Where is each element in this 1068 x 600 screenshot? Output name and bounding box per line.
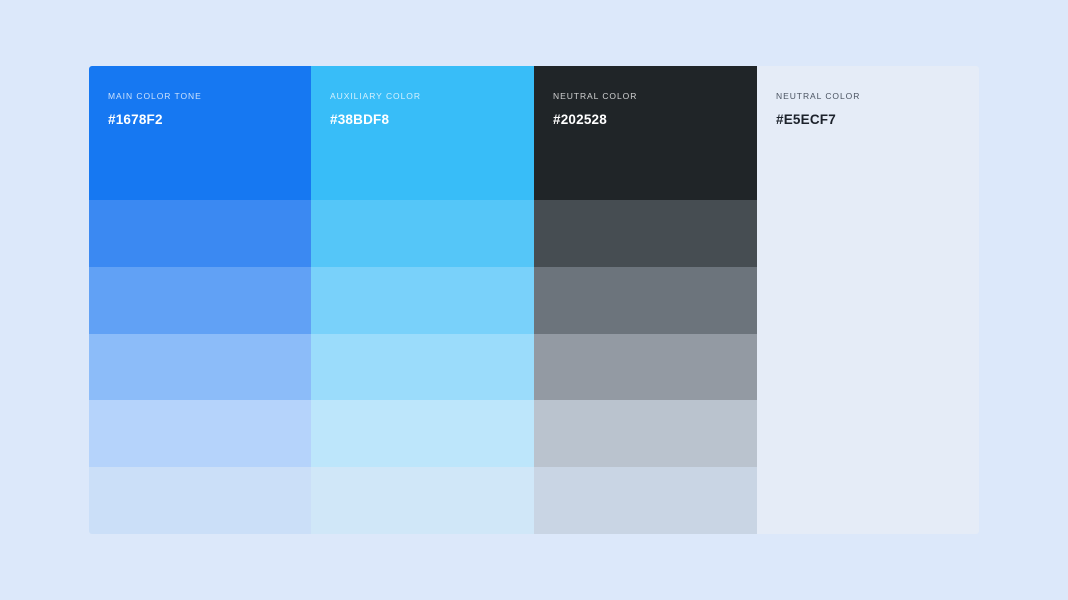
tone-band[interactable]	[534, 467, 757, 534]
tone-band[interactable]	[757, 400, 979, 467]
swatch-hex-value: #1678F2	[108, 111, 311, 129]
tone-band[interactable]	[757, 267, 979, 334]
palette-column-auxiliary-color[interactable]: AUXILIARY COLOR #38BDF8	[311, 66, 534, 534]
tone-band[interactable]	[311, 334, 534, 401]
swatch-label: NEUTRAL COLOR	[776, 90, 979, 102]
swatch-label: NEUTRAL COLOR	[553, 90, 757, 102]
color-palette-card: MAIN COLOR TONE #1678F2 AUXILIARY COLOR …	[89, 66, 979, 534]
swatch-hex-value: #202528	[553, 111, 757, 129]
tone-band[interactable]	[757, 200, 979, 267]
tone-band[interactable]	[89, 467, 311, 534]
palette-column-neutral-color-dark[interactable]: NEUTRAL COLOR #202528	[534, 66, 757, 534]
tone-ramp-neutral-color-dark	[534, 200, 757, 534]
tone-band[interactable]	[311, 200, 534, 267]
swatch-label: MAIN COLOR TONE	[108, 90, 311, 102]
tone-band[interactable]	[757, 334, 979, 401]
palette-column-neutral-color-light[interactable]: NEUTRAL COLOR #E5ECF7	[757, 66, 979, 534]
tone-ramp-main-color-tone	[89, 200, 311, 534]
tone-band[interactable]	[89, 200, 311, 267]
swatch-header-neutral-color-light[interactable]: NEUTRAL COLOR #E5ECF7	[757, 66, 979, 200]
tone-ramp-auxiliary-color	[311, 200, 534, 534]
swatch-header-auxiliary-color[interactable]: AUXILIARY COLOR #38BDF8	[311, 66, 534, 200]
swatch-header-main-color-tone[interactable]: MAIN COLOR TONE #1678F2	[89, 66, 311, 200]
tone-band[interactable]	[311, 400, 534, 467]
tone-band[interactable]	[311, 267, 534, 334]
swatch-hex-value: #38BDF8	[330, 111, 534, 129]
tone-band[interactable]	[311, 467, 534, 534]
swatch-label: AUXILIARY COLOR	[330, 90, 534, 102]
tone-band[interactable]	[534, 334, 757, 401]
palette-stage: MAIN COLOR TONE #1678F2 AUXILIARY COLOR …	[0, 0, 1068, 600]
tone-band[interactable]	[89, 334, 311, 401]
tone-band[interactable]	[534, 200, 757, 267]
tone-band[interactable]	[757, 467, 979, 534]
tone-band[interactable]	[89, 267, 311, 334]
swatch-hex-value: #E5ECF7	[776, 111, 979, 129]
tone-band[interactable]	[534, 400, 757, 467]
palette-column-main-color-tone[interactable]: MAIN COLOR TONE #1678F2	[89, 66, 311, 534]
tone-ramp-neutral-color-light	[757, 200, 979, 534]
tone-band[interactable]	[534, 267, 757, 334]
tone-band[interactable]	[89, 400, 311, 467]
swatch-header-neutral-color-dark[interactable]: NEUTRAL COLOR #202528	[534, 66, 757, 200]
